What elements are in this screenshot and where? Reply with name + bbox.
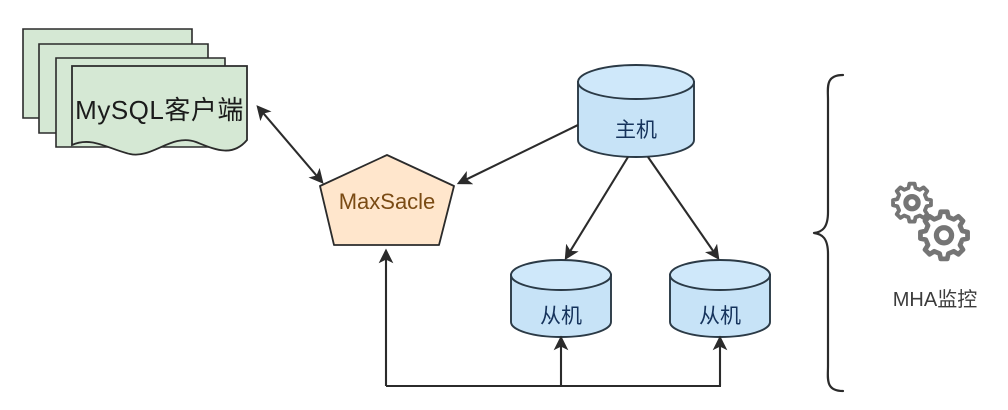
edge-client-proxy (258, 107, 322, 182)
edge-master-slave-left (566, 157, 628, 258)
edge-master-proxy (459, 125, 578, 183)
slave-left-cylinder[interactable] (511, 260, 611, 337)
client-doc-layer-1 (72, 66, 247, 155)
slave-right-cylinder[interactable] (670, 260, 770, 337)
gear-large-icon (920, 212, 967, 259)
client-stack[interactable] (23, 29, 247, 155)
edge-master-slave-right (648, 157, 718, 258)
slave-right-top-ellipse (670, 260, 770, 290)
slave-left-top-ellipse (511, 260, 611, 290)
proxy-pentagon[interactable] (320, 155, 454, 245)
diagram-canvas: MySQL客户端 MaxSacle 主机 从机 从机 MHA监控 (0, 0, 1008, 410)
master-cylinder[interactable] (578, 65, 694, 157)
mha-brace (814, 75, 843, 391)
architecture-diagram (0, 0, 1008, 410)
gears-icon (893, 184, 967, 259)
master-top-ellipse (578, 65, 694, 99)
gear-small-icon (893, 184, 931, 222)
pentagon-shape (320, 155, 454, 245)
